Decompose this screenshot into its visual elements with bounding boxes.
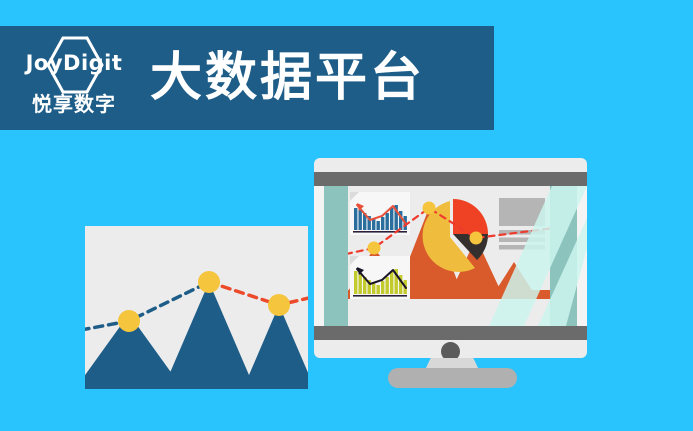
- text-block-heading: [499, 198, 545, 226]
- data-marker: [118, 310, 140, 332]
- left-chart-svg: [85, 226, 308, 389]
- trend-line-blue: [85, 282, 209, 330]
- monitor-bezel-top: [314, 172, 587, 186]
- page-title: 大数据平台: [150, 52, 425, 104]
- data-marker: [423, 202, 436, 215]
- trend-line-red: [209, 282, 308, 305]
- data-marker: [268, 294, 290, 316]
- logo-wordmark: JoyDigit: [14, 51, 134, 75]
- dashboard-svg: [348, 186, 550, 326]
- logo-subtitle: 悦享数字: [14, 88, 134, 117]
- data-marker: [470, 232, 483, 245]
- illustration-canvas: JoyDigit 悦享数字 大数据平台: [0, 0, 693, 431]
- left-area-chart: [85, 226, 308, 389]
- screen-band-right: [550, 186, 577, 326]
- monitor-bezel-bottom: [314, 326, 587, 340]
- header-banner: JoyDigit 悦享数字 大数据平台: [0, 26, 494, 130]
- dashboard-content: [348, 186, 550, 326]
- brand-logo: JoyDigit 悦享数字: [14, 32, 134, 124]
- text-block: [499, 198, 545, 250]
- pie-slice-red: [453, 199, 488, 234]
- data-marker: [198, 271, 220, 293]
- text-block-line: [499, 238, 545, 243]
- monitor-screen: [314, 186, 587, 326]
- screen-band-left: [324, 186, 348, 326]
- card-bar-chart-yellow: [350, 256, 410, 299]
- text-block-line: [499, 245, 545, 250]
- data-marker: [368, 242, 381, 255]
- monitor-stand-base: [388, 368, 517, 388]
- monitor: [314, 158, 587, 358]
